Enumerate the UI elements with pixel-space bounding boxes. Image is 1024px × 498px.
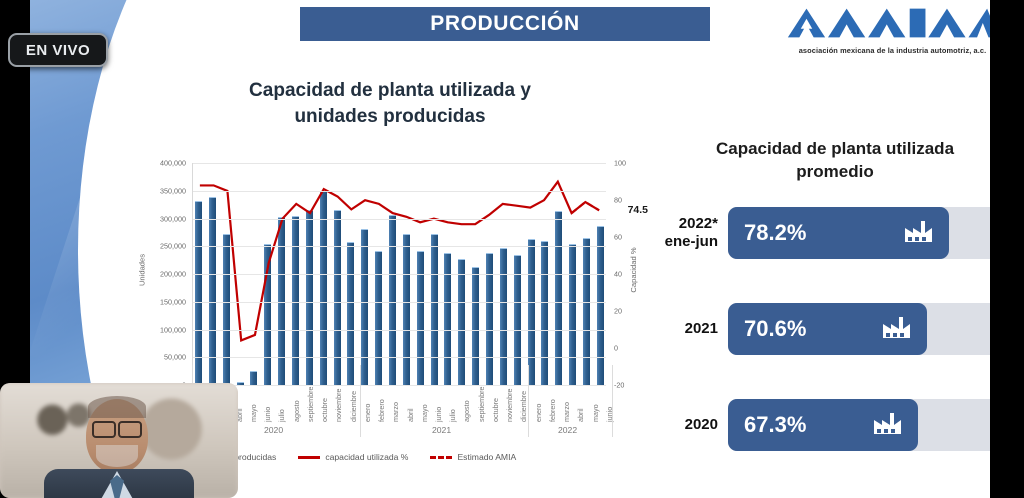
y-axis-right-tick: 60 xyxy=(614,233,622,242)
factory-icon-wrap xyxy=(881,315,911,344)
y-axis-right-tick: 0 xyxy=(614,344,618,353)
capacity-row-label-line1: 2022* xyxy=(650,215,718,233)
chart-y-axis-left: Unidades 050,000100,000150,000200,000250… xyxy=(130,155,188,385)
amia-logo: asociación mexicana de la industria auto… xyxy=(785,6,990,58)
chart-x-axis-months: enerofebreromarzoabrilmayojuniojulioagos… xyxy=(192,370,612,422)
x-axis-month-label: marzo xyxy=(391,370,398,422)
y-axis-left-tick: 250,000 xyxy=(160,242,186,251)
x-axis-year-label: 2021 xyxy=(432,425,451,435)
chart-gridline xyxy=(193,357,606,358)
x-axis-month-label: marzo xyxy=(562,370,569,422)
capacity-row-label-line1: 2021 xyxy=(650,320,718,338)
x-axis-month-label: junio xyxy=(434,370,441,422)
x-axis-month-label: septiembre xyxy=(477,370,484,422)
x-axis-month-label: mayo xyxy=(591,370,598,422)
x-axis-month-label: abril xyxy=(406,370,413,422)
speaker-glasses-icon xyxy=(92,421,142,434)
capacity-row-label: 2020 xyxy=(650,416,728,434)
capacity-value: 78.2% xyxy=(744,220,806,246)
amia-logo-tagline: asociación mexicana de la industria auto… xyxy=(785,46,990,55)
production-chart: Unidades 050,000100,000150,000200,000250… xyxy=(130,155,650,385)
capacity-track: 67.3% xyxy=(728,399,990,451)
chart-title: Capacidad de planta utilizada y unidades… xyxy=(190,78,590,129)
capacity-row-label: 2022*ene-jun xyxy=(650,215,728,250)
x-axis-month-label: enero xyxy=(363,370,370,422)
legend-dashed-swatch-icon xyxy=(430,456,452,459)
y-axis-left-tick: 50,000 xyxy=(164,353,186,362)
live-badge-label: EN VIVO xyxy=(26,42,90,59)
x-axis-month-label: noviembre xyxy=(505,370,512,422)
chart-line-solid xyxy=(200,182,599,341)
y-axis-right-tick: 40 xyxy=(614,270,622,279)
broadcast-stage: PRODUCCIÓN asociación mexicana de la ind… xyxy=(0,0,1024,498)
y-axis-left-tick: 300,000 xyxy=(160,214,186,223)
chart-gridline xyxy=(193,274,606,275)
x-axis-month-label: junio xyxy=(605,370,612,422)
capacity-panel-title: Capacidad de planta utilizada promedio xyxy=(670,138,990,184)
factory-icon xyxy=(903,219,933,243)
live-badge: EN VIVO xyxy=(8,33,108,67)
y-axis-left-label: Unidades xyxy=(138,254,147,286)
x-axis-month-label: diciembre xyxy=(349,370,356,422)
capacity-value: 70.6% xyxy=(744,316,806,342)
x-axis-month-label: octubre xyxy=(491,370,498,422)
chart-title-line2: unidades producidas xyxy=(190,104,590,130)
x-axis-month-label: septiembre xyxy=(306,370,313,422)
speaker-video-overlay[interactable] xyxy=(0,383,238,498)
chart-plot-area xyxy=(192,163,606,385)
speaker-hair xyxy=(88,396,146,418)
chart-gridline xyxy=(193,191,606,192)
capacity-row-label-line1: 2020 xyxy=(650,416,718,434)
capacity-row: 202170.6% xyxy=(650,301,990,357)
x-axis-month-label: mayo xyxy=(420,370,427,422)
x-axis-month-label: febrero xyxy=(548,370,555,422)
legend-item-line: capacidad utilizada % xyxy=(298,452,408,462)
factory-icon xyxy=(881,315,911,339)
x-axis-month-label: abril xyxy=(576,370,583,422)
y-axis-left-tick: 200,000 xyxy=(160,270,186,279)
chart-data-label: 74.5 xyxy=(628,204,648,216)
x-axis-year-label: 2020 xyxy=(264,425,283,435)
capacity-fill: 78.2% xyxy=(728,207,949,259)
capacity-rows: 2022*ene-jun78.2%202170.6%202067.3% xyxy=(650,205,990,493)
capacity-fill: 70.6% xyxy=(728,303,927,355)
x-axis-month-label: mayo xyxy=(249,370,256,422)
capacity-row: 2022*ene-jun78.2% xyxy=(650,205,990,261)
chart-legend: unidades producidas capacidad utilizada … xyxy=(180,448,620,466)
capacity-track: 78.2% xyxy=(728,207,990,259)
y-axis-right-tick: -20 xyxy=(614,381,624,390)
x-axis-month-label: febrero xyxy=(377,370,384,422)
legend-label-dashed: Estimado AMIA xyxy=(457,452,516,462)
year-separator xyxy=(360,365,361,437)
capacity-row: 202067.3% xyxy=(650,397,990,453)
legend-item-dashed: Estimado AMIA xyxy=(430,452,516,462)
chart-gridline xyxy=(193,330,606,331)
factory-icon-wrap xyxy=(903,219,933,248)
capacity-row-label: 2021 xyxy=(650,320,728,338)
x-axis-month-label: agosto xyxy=(462,370,469,422)
capacity-panel-title-line1: Capacidad de planta utilizada xyxy=(670,138,990,161)
factory-icon xyxy=(872,411,902,435)
chart-gridline xyxy=(193,246,606,247)
x-axis-month-label: noviembre xyxy=(334,370,341,422)
x-axis-month-label: junio xyxy=(263,370,270,422)
chart-x-axis-years: 202020212022 xyxy=(180,425,620,441)
x-axis-month-label: enero xyxy=(534,370,541,422)
y-axis-right-tick: 20 xyxy=(614,307,622,316)
slide-title-bar: PRODUCCIÓN xyxy=(300,7,710,41)
page-title: PRODUCCIÓN xyxy=(430,12,580,36)
y-axis-left-tick: 100,000 xyxy=(160,325,186,334)
year-separator xyxy=(528,365,529,437)
y-axis-right-tick: 80 xyxy=(614,196,622,205)
chart-gridline xyxy=(193,163,606,164)
y-axis-right-label: Capacidad % xyxy=(629,247,638,292)
x-axis-year-label: 2022 xyxy=(558,425,577,435)
legend-label-line: capacidad utilizada % xyxy=(325,452,408,462)
amia-logo-icon xyxy=(785,6,990,40)
capacity-panel-title-line2: promedio xyxy=(670,161,990,184)
x-axis-month-label: agosto xyxy=(292,370,299,422)
y-axis-right-tick: 100 xyxy=(614,159,626,168)
x-axis-month-label: julio xyxy=(277,370,284,422)
capacity-value: 67.3% xyxy=(744,412,806,438)
capacity-row-label-line2: ene-jun xyxy=(650,233,718,251)
x-axis-month-label: diciembre xyxy=(519,370,526,422)
x-axis-month-label: julio xyxy=(448,370,455,422)
y-axis-left-tick: 150,000 xyxy=(160,297,186,306)
chart-y-axis-right: Capacidad % -20020406080100 xyxy=(606,163,650,385)
y-axis-left-tick: 350,000 xyxy=(160,186,186,195)
x-axis-month-label: octubre xyxy=(320,370,327,422)
capacity-track: 70.6% xyxy=(728,303,990,355)
legend-line-swatch-icon xyxy=(298,456,320,459)
capacity-fill: 67.3% xyxy=(728,399,918,451)
year-separator xyxy=(612,365,613,437)
chart-title-line1: Capacidad de planta utilizada y xyxy=(190,78,590,104)
chart-gridline xyxy=(193,302,606,303)
speaker-beard xyxy=(96,445,138,467)
chart-gridline xyxy=(193,219,606,220)
y-axis-left-tick: 400,000 xyxy=(160,159,186,168)
factory-icon-wrap xyxy=(872,411,902,440)
